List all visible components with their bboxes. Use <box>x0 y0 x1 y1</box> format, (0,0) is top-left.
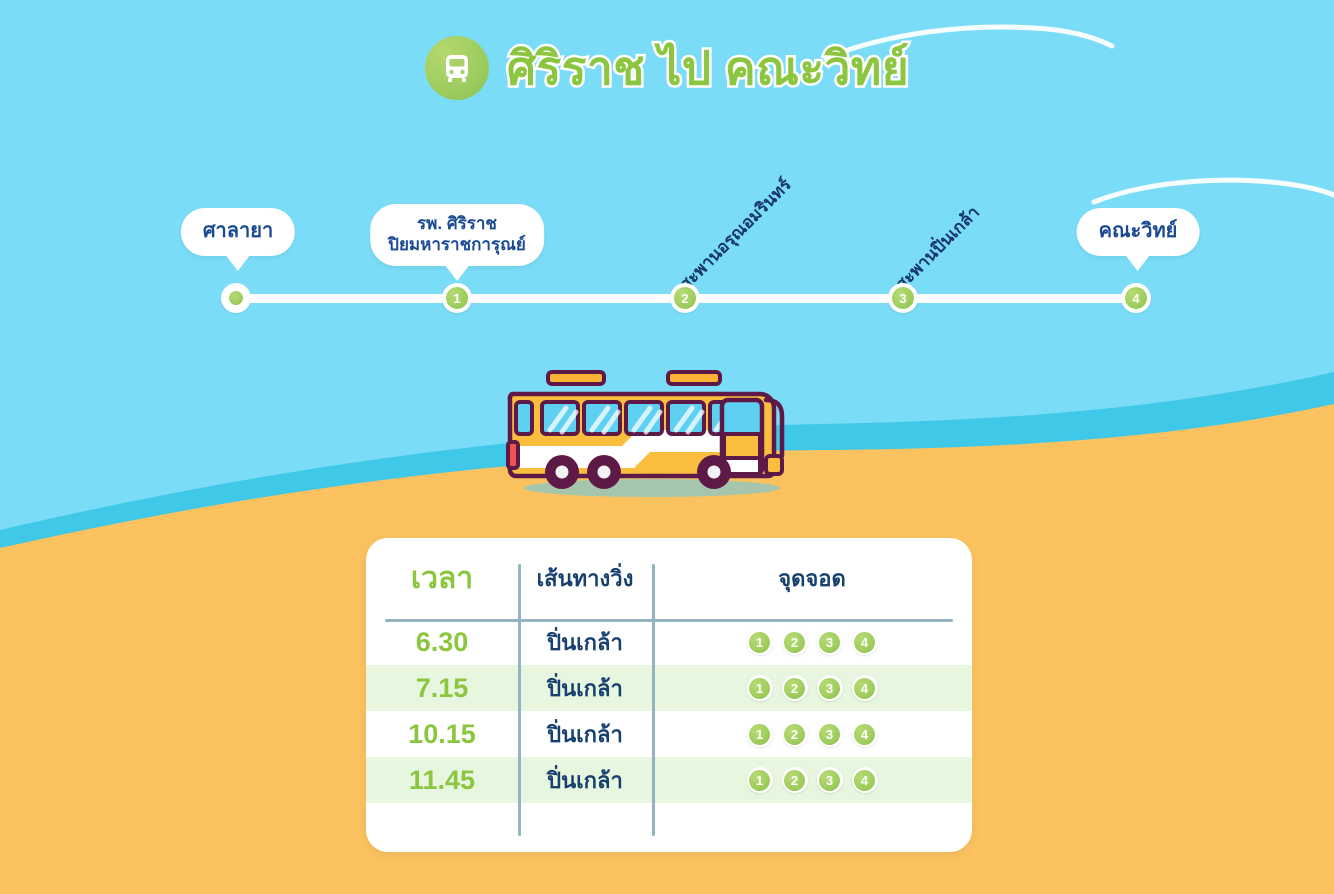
column-header-time: เวลา <box>366 538 518 619</box>
stop-chip: 1 <box>747 675 773 701</box>
cell-route: ปิ่นเกล้า <box>518 711 652 757</box>
cell-route: ปิ่นเกล้า <box>518 619 652 665</box>
stop-chip: 4 <box>852 767 878 793</box>
timeline-node-start[interactable] <box>221 283 251 313</box>
cell-stops: 1 2 3 4 <box>652 711 972 757</box>
stop-chip: 4 <box>852 721 878 747</box>
stop-chip: 3 <box>817 721 843 747</box>
table-row[interactable]: 11.45 ปิ่นเกล้า 1 2 3 4 <box>366 757 972 803</box>
timeline-node-2-number: 2 <box>674 287 696 309</box>
poster-canvas: ศิริราช ไป คณะวิทย์ ศาลายา รพ. ศิริราช ป… <box>0 0 1334 894</box>
timeline-node-4[interactable]: 4 <box>1121 283 1151 313</box>
timeline-node-2[interactable]: 2 <box>670 283 700 313</box>
bus-side-view-illustration <box>500 360 800 505</box>
cell-stops: 1 2 3 4 <box>652 757 972 803</box>
stop-chip-number: 3 <box>819 770 840 791</box>
stop-label-4: คณะวิทย์ <box>1099 220 1178 242</box>
stop-bubble-1[interactable]: รพ. ศิริราช ปิยมหาราชการุณย์ <box>370 204 544 266</box>
stop-chip: 1 <box>747 721 773 747</box>
stop-chip: 2 <box>782 675 808 701</box>
table-row[interactable]: 7.15 ปิ่นเกล้า 1 2 3 4 <box>366 665 972 711</box>
stop-label-1-line1: รพ. ศิริราช <box>388 213 526 234</box>
cell-route: ปิ่นเกล้า <box>518 665 652 711</box>
timeline-node-1-number: 1 <box>446 287 468 309</box>
stop-chip: 3 <box>817 629 843 655</box>
cell-time: 7.15 <box>366 665 518 711</box>
cell-time: 10.15 <box>366 711 518 757</box>
route-timeline: ศาลายา รพ. ศิริราช ปิยมหาราชการุณย์ คณะว… <box>0 0 1334 340</box>
stop-chip: 4 <box>852 675 878 701</box>
column-divider-1 <box>518 564 521 836</box>
cell-time: 6.30 <box>366 619 518 665</box>
stop-chip-number: 4 <box>854 770 875 791</box>
stop-chip-number: 2 <box>784 724 805 745</box>
stop-chip: 2 <box>782 629 808 655</box>
table-header-row: เวลา เส้นทางวิ่ง จุดจอด <box>366 538 972 619</box>
cell-stops: 1 2 3 4 <box>652 665 972 711</box>
timeline-node-3[interactable]: 3 <box>888 283 918 313</box>
column-header-route: เส้นทางวิ่ง <box>518 538 652 619</box>
stop-chip-number: 4 <box>854 632 875 653</box>
column-divider-2 <box>652 564 655 836</box>
table-row[interactable]: 10.15 ปิ่นเกล้า 1 2 3 4 <box>366 711 972 757</box>
timeline-node-4-number: 4 <box>1125 287 1147 309</box>
stop-label-2: สะพานอรุณอมรินทร์ <box>673 172 798 297</box>
stop-chip-number: 3 <box>819 632 840 653</box>
header-divider <box>385 619 953 622</box>
column-header-stops: จุดจอด <box>652 538 972 619</box>
stop-chip: 2 <box>782 721 808 747</box>
stop-chip: 4 <box>852 629 878 655</box>
stop-chip-number: 2 <box>784 678 805 699</box>
stop-chip-number: 1 <box>749 770 770 791</box>
stop-chip: 3 <box>817 767 843 793</box>
schedule-card: เวลา เส้นทางวิ่ง จุดจอด 6.30 ปิ่นเกล้า 1… <box>366 538 972 852</box>
stop-chip-number: 4 <box>854 724 875 745</box>
stop-chip-number: 1 <box>749 678 770 699</box>
stop-bubble-start[interactable]: ศาลายา <box>181 208 295 256</box>
cell-route: ปิ่นเกล้า <box>518 757 652 803</box>
stop-chip-number: 2 <box>784 632 805 653</box>
stop-chip: 3 <box>817 675 843 701</box>
schedule-table: เวลา เส้นทางวิ่ง จุดจอด 6.30 ปิ่นเกล้า 1… <box>366 538 972 803</box>
table-row[interactable]: 6.30 ปิ่นเกล้า 1 2 3 4 <box>366 619 972 665</box>
stop-chip-number: 3 <box>819 678 840 699</box>
stop-chip-number: 3 <box>819 724 840 745</box>
stop-label-1-line2: ปิยมหาราชการุณย์ <box>388 234 526 255</box>
cell-time: 11.45 <box>366 757 518 803</box>
stop-chip-number: 2 <box>784 770 805 791</box>
cell-stops: 1 2 3 4 <box>652 619 972 665</box>
timeline-node-3-number: 3 <box>892 287 914 309</box>
stop-chip: 1 <box>747 767 773 793</box>
stop-label-start: ศาลายา <box>203 220 273 242</box>
stop-chip: 1 <box>747 629 773 655</box>
timeline-node-start-dot <box>229 291 243 305</box>
stop-chip-number: 4 <box>854 678 875 699</box>
stop-chip: 2 <box>782 767 808 793</box>
timeline-node-1[interactable]: 1 <box>442 283 472 313</box>
stop-chip-number: 1 <box>749 632 770 653</box>
stop-chip-number: 1 <box>749 724 770 745</box>
stop-bubble-4[interactable]: คณะวิทย์ <box>1077 208 1200 256</box>
